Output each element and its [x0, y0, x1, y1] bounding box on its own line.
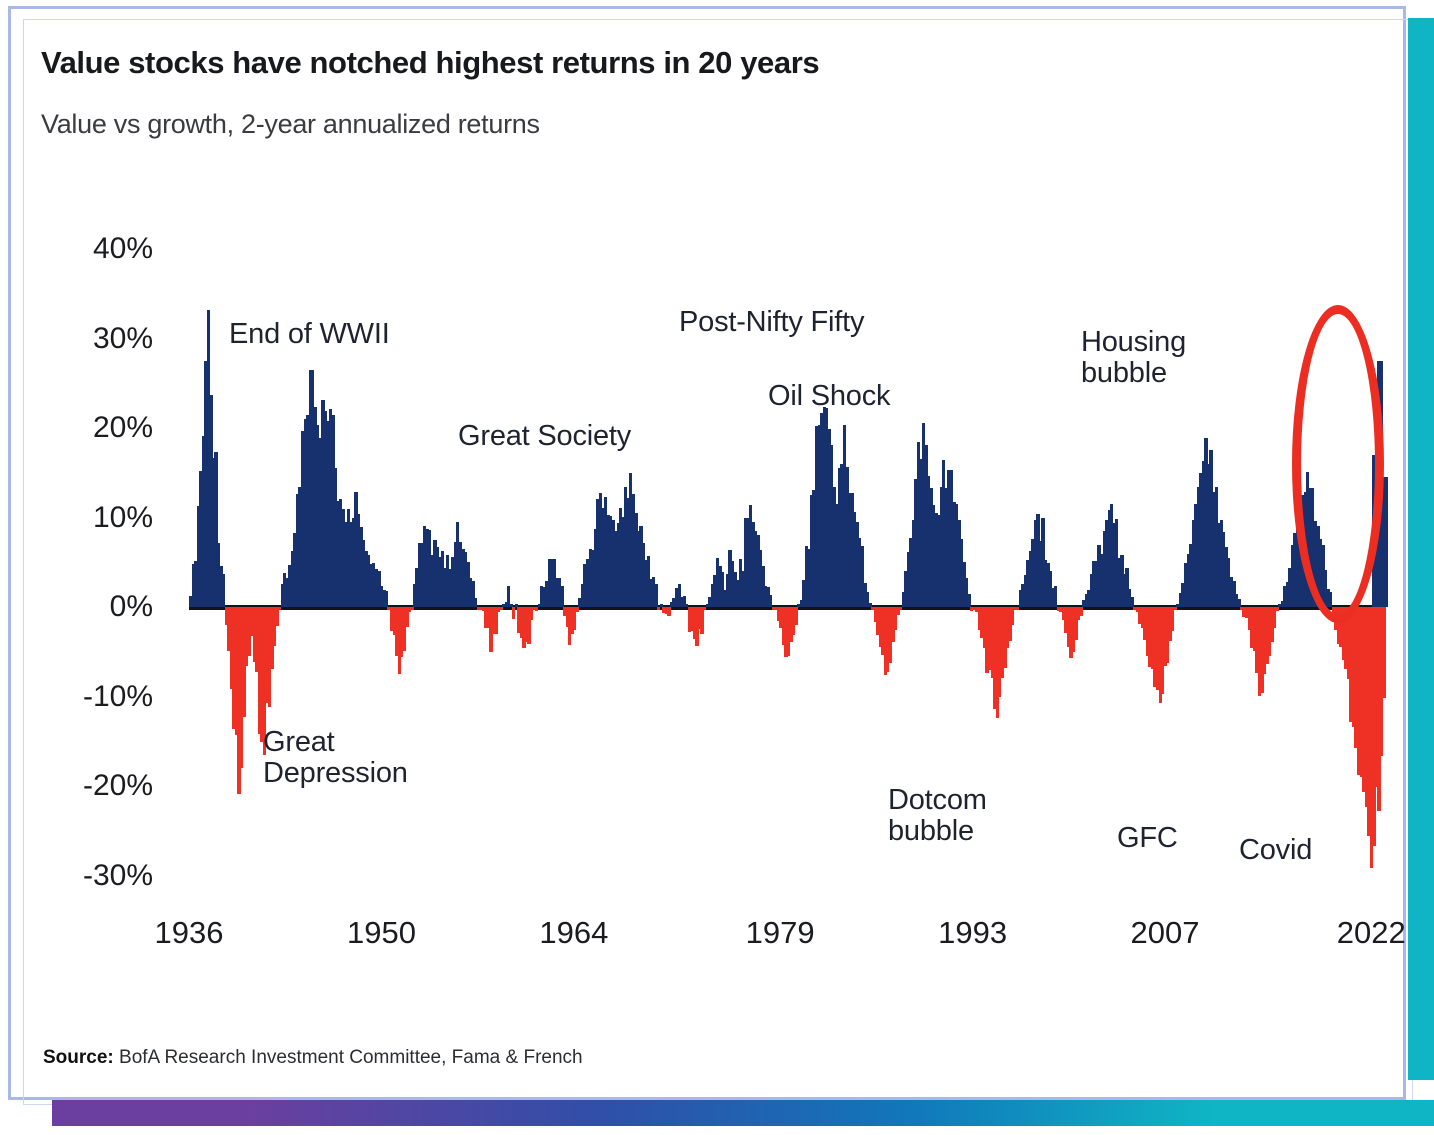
chart-bar — [248, 607, 251, 656]
chart-bar — [433, 540, 436, 607]
chart-bar — [423, 526, 426, 607]
chart-bar — [1171, 607, 1174, 631]
chart-bar — [1253, 607, 1256, 651]
chart-bar — [545, 581, 548, 607]
chart-bar — [533, 607, 536, 610]
chart-bar — [1082, 600, 1085, 607]
chart-bar — [960, 539, 963, 607]
chart-bar — [1377, 607, 1380, 811]
x-axis-tick-label: 1950 — [347, 915, 416, 951]
chart-bar — [749, 505, 752, 607]
chart-bar — [400, 607, 403, 657]
chart-bar — [1059, 607, 1062, 612]
chart-bar — [431, 555, 434, 607]
chart-bar — [1029, 551, 1032, 607]
chart-bar — [1072, 607, 1075, 652]
chart-bar — [426, 529, 429, 607]
chart-bar — [319, 438, 322, 607]
chart-bar — [624, 487, 627, 607]
chart-annotation-label: Dotcom bubble — [888, 785, 987, 846]
chart-bar — [1372, 607, 1375, 846]
chart-bar — [777, 607, 780, 621]
chart-bar — [296, 494, 299, 607]
chart-bar — [581, 584, 584, 607]
chart-bar — [1357, 607, 1360, 775]
chart-bar — [779, 607, 782, 628]
chart-bar — [734, 572, 737, 607]
chart-bar — [367, 555, 370, 607]
chart-bar — [1258, 607, 1261, 696]
chart-bar — [507, 586, 510, 607]
chart-bar — [192, 564, 195, 607]
chart-bar — [711, 584, 714, 607]
chart-bar — [861, 546, 864, 607]
chart-bar — [1245, 607, 1248, 618]
chart-bar — [566, 607, 569, 627]
chart-bar — [1164, 607, 1167, 666]
chart-bar — [1334, 607, 1337, 630]
chart-bar — [1016, 607, 1019, 610]
chart-bar — [838, 468, 841, 607]
chart-bar — [484, 607, 487, 628]
chart-bar — [263, 607, 266, 755]
chart-bar — [405, 607, 408, 627]
chart-bar — [477, 607, 480, 610]
chart-bar — [586, 559, 589, 607]
chart-bar — [456, 522, 459, 607]
chart-bar — [1019, 590, 1022, 607]
chart-bar — [1169, 607, 1172, 641]
chart-bar — [983, 607, 986, 648]
chart-bar — [578, 598, 581, 607]
chart-bar — [1103, 531, 1106, 607]
chart-bar — [846, 467, 849, 607]
chart-bar — [1199, 473, 1202, 607]
chart-bar — [217, 543, 220, 607]
chart-bar — [924, 445, 927, 607]
chart-bar — [695, 607, 698, 646]
chart-bar — [927, 476, 930, 607]
chart-bar — [1057, 607, 1060, 611]
chart-annotation-label: Housing bubble — [1081, 327, 1186, 388]
chart-bar — [410, 607, 413, 610]
chart-bar — [1250, 607, 1253, 648]
chart-bar — [965, 578, 968, 607]
chart-bar — [1036, 514, 1039, 607]
chart-bar — [548, 559, 551, 607]
page-title: Value stocks have notched highest return… — [41, 45, 819, 81]
chart-bar — [848, 493, 851, 607]
chart-bar — [828, 429, 831, 607]
chart-bar — [441, 551, 444, 607]
chart-bar — [1347, 607, 1350, 679]
chart-bar — [795, 607, 798, 625]
chart-bar — [344, 522, 347, 607]
chart-bar — [1187, 554, 1190, 607]
chart-bar — [1337, 607, 1340, 644]
chart-annotation-label: Post-Nifty Fifty — [679, 307, 864, 338]
chart-bar — [1375, 607, 1378, 787]
chart-bar — [421, 543, 424, 607]
chart-bar — [1326, 589, 1329, 607]
chart-bar — [571, 607, 574, 634]
chart-bar — [655, 584, 658, 607]
chart-bar — [1324, 570, 1327, 607]
source-note: Source: BofA Research Investment Committ… — [43, 1047, 583, 1069]
chart-bar — [1204, 438, 1207, 607]
chart-bar — [912, 520, 915, 607]
chart-bar — [751, 522, 754, 607]
chart-bar — [657, 607, 660, 610]
chart-bar — [970, 607, 973, 611]
chart-bar — [1077, 607, 1080, 620]
chart-bar — [469, 578, 472, 607]
x-axis-tick-label: 1993 — [938, 915, 1007, 951]
chart-bar — [398, 607, 401, 674]
chart-bar — [298, 487, 301, 607]
chart-bar — [342, 509, 345, 607]
chart-bar — [851, 493, 854, 607]
chart-bar — [1090, 574, 1093, 607]
chart-bar — [1270, 607, 1273, 642]
chart-bar — [214, 452, 217, 607]
chart-bar — [550, 559, 553, 607]
chart-annotation-label: Great Society — [458, 421, 631, 452]
chart-bar — [293, 533, 296, 607]
chart-bar — [1151, 607, 1154, 669]
chart-bar — [1097, 545, 1100, 607]
chart-bar — [281, 584, 284, 607]
chart-bar — [1062, 607, 1065, 620]
chart-bar — [395, 607, 398, 656]
chart-bar — [754, 531, 757, 607]
chart-bar — [1192, 520, 1195, 607]
chart-bar — [731, 561, 734, 607]
chart-bar — [698, 607, 701, 629]
x-axis-tick-label: 2007 — [1131, 915, 1200, 951]
chart-bar — [802, 580, 805, 607]
chart-bar — [1222, 532, 1225, 607]
chart-bar — [818, 425, 821, 607]
chart-bar — [428, 530, 431, 607]
chart-bar — [1352, 607, 1355, 727]
chart-bar — [487, 607, 490, 628]
chart-bar — [728, 550, 731, 607]
chart-bar — [258, 607, 261, 734]
chart-bar — [1255, 607, 1258, 673]
chart-bar — [1349, 607, 1352, 722]
chart-bar — [265, 607, 268, 703]
chart-bar — [288, 565, 291, 607]
x-axis-tick-label: 1936 — [155, 915, 224, 951]
chart-bar — [919, 459, 922, 607]
chart-bar — [644, 560, 647, 607]
chart-bar — [1069, 607, 1072, 658]
chart-bar — [1283, 586, 1286, 607]
chart-bar — [471, 581, 474, 607]
chart-bar — [1354, 607, 1357, 748]
chart-bar — [1174, 607, 1177, 610]
chart-bar — [904, 571, 907, 607]
chart-bar — [800, 600, 803, 607]
chart-bar — [604, 497, 607, 607]
chart-bar — [464, 552, 467, 607]
chart-bar — [1212, 492, 1215, 607]
chart-bar — [492, 607, 495, 634]
chart-bar — [978, 607, 981, 630]
chart-bar — [207, 310, 210, 607]
chart-bar — [1286, 582, 1289, 607]
chart-bar — [1001, 607, 1004, 678]
chart-bar — [321, 400, 324, 607]
chart-bar — [863, 583, 866, 607]
chart-bar — [998, 607, 1001, 697]
chart-bar — [884, 607, 887, 675]
chart-bar — [339, 499, 342, 607]
chart-bar — [1148, 607, 1151, 667]
chart-bar — [283, 573, 286, 607]
chart-bar-highlighted — [1383, 477, 1388, 607]
chart-bar — [629, 473, 632, 607]
chart-bar — [812, 490, 815, 607]
chart-bar — [1360, 607, 1363, 777]
chart-bar — [1367, 607, 1370, 836]
chart-bar — [1047, 563, 1050, 607]
chart-bar — [324, 411, 327, 607]
chart-bar — [357, 514, 360, 607]
chart-bar — [202, 436, 205, 607]
chart-bar — [227, 607, 230, 651]
chart-annotation-label: Great Depression — [263, 727, 408, 788]
chart-bar — [601, 508, 604, 607]
chart-bar — [555, 578, 558, 607]
chart-bar — [393, 607, 396, 635]
chart-bar — [914, 479, 917, 607]
chart-bar — [1181, 583, 1184, 607]
chart-bar — [1141, 607, 1144, 628]
chart-bar — [474, 598, 477, 607]
chart-bar — [522, 607, 525, 648]
chart-bar — [332, 415, 335, 607]
chart-bar — [189, 596, 192, 607]
chart-bar — [311, 370, 314, 607]
decorative-right-accent-bar — [1408, 18, 1434, 1080]
chart-bar — [232, 607, 235, 729]
y-axis-tick-label: 10% — [23, 501, 153, 535]
y-axis-tick-label: 30% — [23, 322, 153, 356]
chart-bar — [670, 602, 673, 607]
chart-bar — [856, 522, 859, 607]
chart-bar — [591, 550, 594, 607]
chart-annotation-label: Covid — [1239, 835, 1312, 866]
chart-bar — [1321, 545, 1324, 607]
chart-bar — [835, 504, 838, 607]
chart-bar — [415, 568, 418, 607]
chart-bar — [606, 515, 609, 607]
chart-bar — [1092, 561, 1095, 607]
chart-bar — [764, 586, 767, 607]
chart-bar — [784, 607, 787, 657]
chart-bar — [614, 531, 617, 607]
chart-bar — [1044, 560, 1047, 607]
chart-bar — [866, 592, 869, 607]
chart-bar — [1064, 607, 1067, 633]
chart-bar — [830, 445, 833, 607]
chart-bar — [894, 607, 897, 630]
chart-bar — [1197, 487, 1200, 607]
chart-bar — [683, 596, 686, 607]
chart-bar — [209, 395, 212, 607]
chart-bar — [273, 607, 276, 646]
source-label: Source: — [43, 1047, 114, 1068]
chart-bar — [538, 604, 541, 607]
chart-bar — [1281, 601, 1284, 607]
chart-bar — [573, 607, 576, 630]
chart-bar — [1332, 607, 1335, 622]
chart-bar — [1105, 520, 1108, 607]
chart-bar — [617, 523, 620, 607]
chart-bar — [1143, 607, 1146, 640]
chart-bar — [947, 470, 950, 607]
chart-card: Value stocks have notched highest return… — [8, 6, 1406, 1100]
chart-bar — [194, 561, 197, 607]
chart-bar — [1237, 599, 1240, 607]
chart-bar — [1166, 607, 1169, 663]
chart-bar — [690, 607, 693, 631]
chart-bar — [1339, 607, 1342, 647]
chart-bar — [1235, 594, 1238, 607]
chart-bar — [1013, 607, 1016, 610]
chart-bar — [375, 569, 378, 607]
chart-bar — [767, 587, 770, 607]
chart-bar — [1189, 544, 1192, 607]
chart-plot-area: 40%30%20%10%0%-10%-20%-30% 1936195019641… — [11, 9, 1434, 1135]
chart-bar — [1159, 607, 1162, 703]
chart-bar — [390, 607, 393, 631]
chart-bar — [1153, 607, 1156, 687]
chart-bar — [380, 586, 383, 607]
chart-bar — [772, 607, 775, 610]
chart-bar — [520, 607, 523, 638]
chart-bar — [245, 607, 248, 666]
chart-bar — [502, 604, 505, 607]
chart-bar-highlighted — [1377, 361, 1383, 607]
chart-bar — [886, 607, 889, 672]
chart-bar — [611, 520, 614, 607]
chart-bar — [1049, 571, 1052, 607]
chart-bar — [634, 513, 637, 607]
screenshot-root: Value stocks have notched highest return… — [0, 0, 1434, 1126]
y-axis-tick-label: 20% — [23, 411, 153, 445]
chart-bar — [627, 498, 630, 607]
x-axis-tick-label: 2022 — [1337, 915, 1406, 951]
chart-bar — [1329, 592, 1332, 607]
chart-bar — [909, 538, 912, 607]
chart-bar — [891, 607, 894, 642]
chart-bar — [1054, 586, 1057, 607]
chart-bar — [1230, 577, 1233, 607]
chart-bar — [787, 607, 790, 656]
chart-bar — [973, 607, 976, 610]
chart-bar — [1146, 607, 1149, 656]
chart-bar — [647, 556, 650, 607]
chart-bar — [756, 535, 759, 607]
chart-bar — [746, 518, 749, 607]
source-text: BofA Research Investment Committee, Fama… — [119, 1047, 583, 1068]
chart-bar — [1024, 575, 1027, 607]
chart-bar — [1314, 521, 1317, 607]
chart-bar — [543, 587, 546, 607]
chart-bar — [868, 603, 871, 607]
chart-bar — [637, 531, 640, 607]
chart-bar — [1227, 558, 1230, 607]
chart-bar — [782, 607, 785, 645]
chart-bar — [726, 574, 729, 607]
chart-bar — [723, 590, 726, 607]
chart-bar — [1311, 488, 1314, 607]
chart-bar — [642, 543, 645, 607]
chart-bar — [436, 547, 439, 607]
chart-bar — [907, 552, 910, 607]
chart-bar — [739, 559, 742, 607]
chart-bar — [871, 607, 874, 610]
chart-bar — [1184, 563, 1187, 607]
chart-bar — [1265, 607, 1268, 664]
chart-bar — [685, 604, 688, 607]
chart-bar — [1131, 597, 1134, 607]
chart-bar — [270, 607, 273, 669]
chart-bar — [553, 559, 556, 607]
chart-bar — [932, 505, 935, 607]
chart-bar — [858, 538, 861, 607]
chart-bar — [759, 550, 762, 607]
chart-bar — [403, 607, 406, 651]
chart-bar — [1125, 568, 1128, 607]
chart-bar — [413, 584, 416, 607]
chart-bar — [510, 604, 513, 607]
chart-bar — [222, 574, 225, 607]
chart-bar — [576, 607, 579, 612]
chart-bar — [1260, 607, 1263, 693]
chart-bar — [377, 571, 380, 607]
chart-bar — [291, 551, 294, 607]
page-subtitle: Value vs growth, 2-year annualized retur… — [41, 109, 540, 140]
chart-bar — [1052, 588, 1055, 607]
chart-bar — [443, 568, 446, 607]
chart-bar — [902, 592, 905, 607]
chart-bar — [1011, 607, 1014, 625]
chart-bar — [1067, 607, 1070, 647]
chart-bar — [1217, 523, 1220, 607]
chart-annotation-label: Oil Shock — [768, 381, 890, 412]
chart-bar — [418, 543, 421, 607]
y-axis-tick-label: -30% — [23, 859, 153, 893]
chart-bar — [672, 598, 675, 607]
chart-bar — [1220, 520, 1223, 607]
chart-bar — [1194, 504, 1197, 607]
chart-bar — [540, 586, 543, 607]
decorative-bottom-accent-bar — [52, 1100, 1434, 1126]
chart-bar — [879, 607, 882, 647]
x-axis-tick-label: 1964 — [539, 915, 608, 951]
chart-bar — [942, 460, 945, 607]
chart-bar — [718, 566, 721, 607]
chart-bar — [449, 569, 452, 607]
chart-bar — [301, 431, 304, 607]
chart-bar-highlighted — [1372, 455, 1377, 607]
chart-bar — [708, 597, 711, 607]
chart-bar — [1225, 547, 1228, 607]
